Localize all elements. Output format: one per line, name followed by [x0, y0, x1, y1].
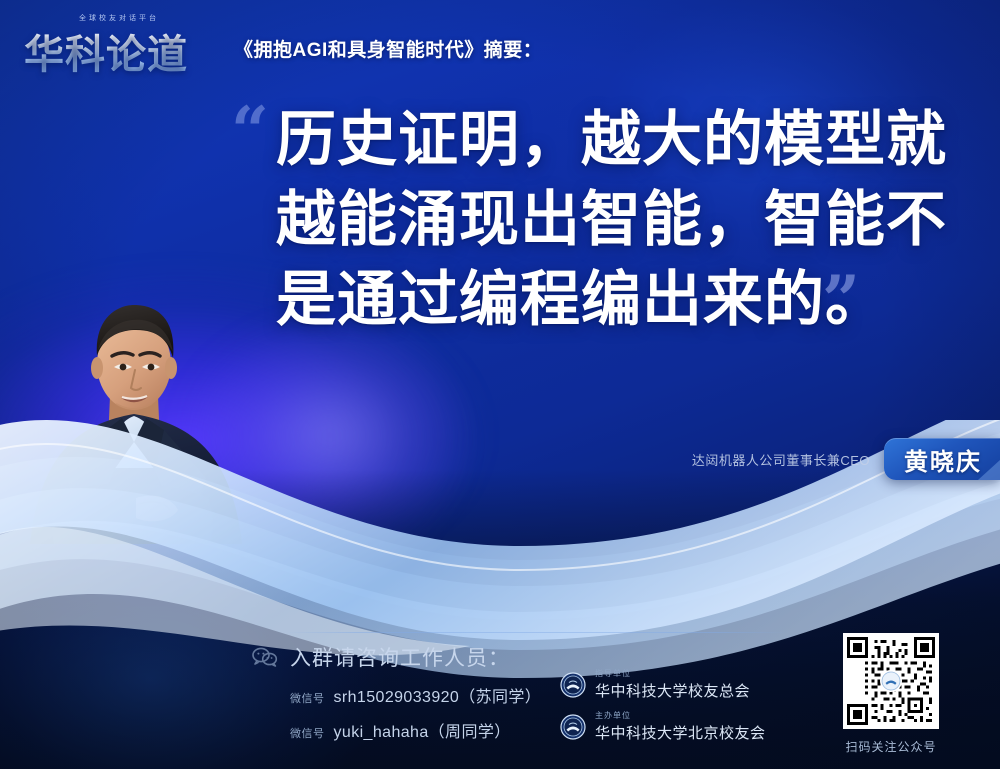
speaker-name-badge: 黄晓庆	[884, 438, 1000, 480]
contact-value[interactable]: srh15029033920（苏同学）	[334, 683, 542, 707]
contact-label: 微信号	[290, 725, 325, 741]
organization-name: 华中科技大学北京校友会	[595, 722, 766, 743]
university-seal-icon	[560, 672, 586, 698]
brand-logo[interactable]: 全球校友对话平台 华科论道	[24, 14, 220, 70]
qr-block: 扫码关注公众号	[836, 633, 946, 755]
header-subtitle: 《拥抱AGI和具身智能时代》摘要：	[234, 35, 542, 70]
footer-divider	[286, 632, 786, 633]
wechat-icon	[252, 647, 278, 667]
university-seal-icon	[560, 714, 586, 740]
qr-code[interactable]	[843, 633, 939, 729]
quote-open-mark: “	[231, 105, 269, 158]
quote-line: 越能涌现出智能，智能不	[276, 180, 946, 260]
qr-caption: 扫码关注公众号	[836, 738, 946, 755]
qr-center-seal-icon	[880, 670, 902, 692]
organization-name: 华中科技大学校友总会	[595, 680, 750, 701]
header: 全球校友对话平台 华科论道 《拥抱AGI和具身智能时代》摘要：	[24, 14, 542, 70]
contact-label: 微信号	[290, 690, 325, 706]
footer-title: 入群请咨询工作人员：	[290, 642, 510, 672]
organization-kind: 主办单位	[595, 710, 766, 721]
speaker-name: 黄晓庆	[904, 442, 982, 477]
attribution: 达闼机器人公司董事长兼CEO 黄晓庆	[692, 438, 1000, 480]
organization-kind: 指导单位	[595, 668, 750, 679]
logo-wordmark: 华科论道	[24, 22, 188, 80]
quote-line: 历史证明，越大的模型就	[276, 100, 946, 180]
organization-list: 指导单位 华中科技大学校友总会 主办单位 华中科技大学北京校友会	[560, 668, 766, 752]
speaker-title: 达闼机器人公司董事长兼CEO	[692, 450, 870, 469]
quote-close-mark: ”	[822, 274, 860, 327]
contact-value[interactable]: yuki_hahaha（周同学）	[334, 718, 511, 742]
organization-item: 指导单位 华中科技大学校友总会	[560, 668, 766, 701]
poster-canvas: 全球校友对话平台 华科论道 《拥抱AGI和具身智能时代》摘要： “ 历史证明，越…	[0, 0, 1000, 769]
organization-item: 主办单位 华中科技大学北京校友会	[560, 710, 766, 743]
